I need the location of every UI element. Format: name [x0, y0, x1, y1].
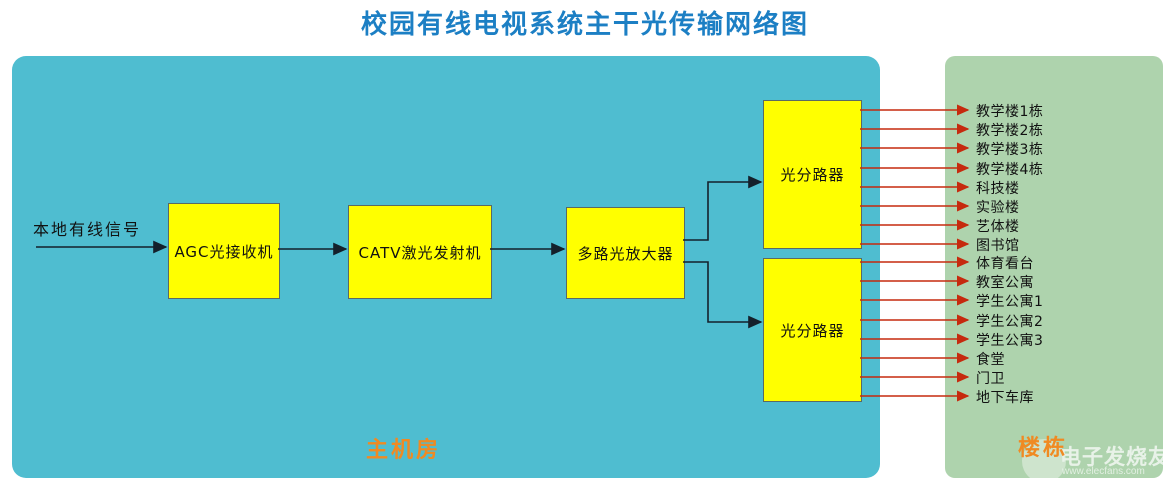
destination-label: 学生公寓2 [976, 311, 1043, 331]
destination-label: 学生公寓1 [976, 291, 1043, 311]
destination-label: 体育看台 [976, 253, 1034, 273]
destination-label: 实验楼 [976, 197, 1020, 217]
destination-label: 门卫 [976, 368, 1005, 388]
destination-label: 图书馆 [976, 235, 1020, 255]
diagram-canvas: 校园有线电视系统主干光传输网络图 本地有线信号 AGC光接收机 CATV激光发射… [0, 0, 1170, 489]
page-title: 校园有线电视系统主干光传输网络图 [0, 4, 1170, 41]
node-catv-laser-transmitter[interactable]: CATV激光发射机 [348, 205, 492, 299]
destination-label: 地下车库 [976, 387, 1034, 407]
destination-label: 艺体楼 [976, 216, 1020, 236]
destination-label: 科技楼 [976, 178, 1020, 198]
source-signal-label: 本地有线信号 [33, 216, 141, 240]
node-optical-splitter-1[interactable]: 光分路器 [763, 100, 862, 249]
destination-label: 教学楼3栋 [976, 139, 1043, 159]
destination-label: 教学楼2栋 [976, 120, 1043, 140]
destination-label: 教室公寓 [976, 272, 1034, 292]
zone-label-machine-room: 主机房 [366, 432, 441, 464]
node-multichannel-optical-amplifier[interactable]: 多路光放大器 [566, 207, 685, 299]
destination-label: 食堂 [976, 349, 1005, 369]
destination-label: 教学楼1栋 [976, 101, 1043, 121]
destination-label: 学生公寓3 [976, 330, 1043, 350]
destination-label: 教学楼4栋 [976, 159, 1043, 179]
node-optical-splitter-2[interactable]: 光分路器 [763, 258, 862, 402]
node-agc-optical-receiver[interactable]: AGC光接收机 [168, 203, 280, 299]
zone-label-building: 楼栋 [1018, 430, 1068, 462]
